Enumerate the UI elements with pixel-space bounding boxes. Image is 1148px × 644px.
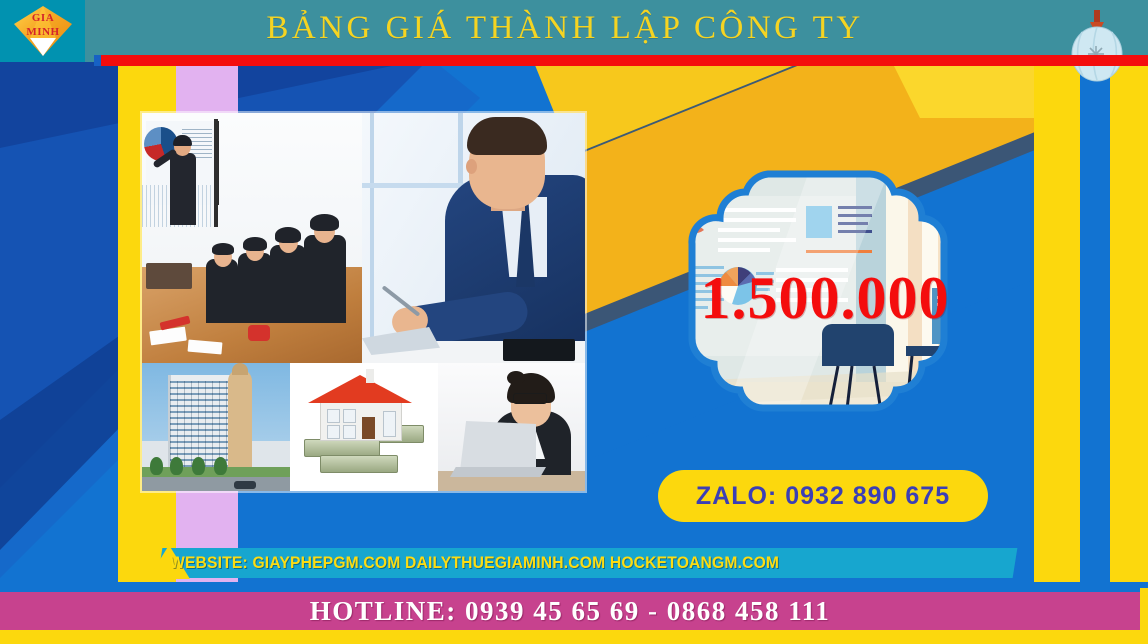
- woman-laptop-screen: [460, 421, 536, 471]
- hotline-bar[interactable]: HOTLINE: 0939 45 65 69 - 0868 458 111: [0, 592, 1140, 630]
- businesswoman-laptop-photo: [438, 363, 585, 491]
- building-car: [234, 481, 256, 489]
- zalo-contact-pill[interactable]: ZALO: 0932 890 675: [658, 470, 988, 522]
- logo-line-1: GIA: [12, 11, 74, 25]
- building-tree-1: [150, 457, 163, 475]
- header-red-rule: [101, 55, 1148, 66]
- logo-wordmark: GIA MINH: [12, 11, 74, 39]
- house-door: [362, 417, 375, 439]
- money-stack-front: [320, 455, 398, 473]
- photo-collage: [142, 113, 585, 491]
- promotional-banner: GIA MINH BẢNG GIÁ THÀNH LẬP CÔNG TY: [0, 0, 1148, 644]
- meeting-board-edge: [214, 119, 218, 227]
- building-round-wing: [228, 369, 252, 475]
- meeting-attendee-3-hair: [275, 227, 301, 243]
- house-window-5: [383, 411, 396, 437]
- businessman-hair: [467, 117, 547, 155]
- meeting-attendee-4: [304, 235, 346, 323]
- meeting-attendee-3: [270, 245, 306, 323]
- businessman-window-mullion-1: [370, 113, 374, 363]
- house-on-money-photo: [290, 363, 438, 491]
- woman-glasses: [513, 393, 547, 404]
- office-building-photo: [142, 363, 290, 491]
- meeting-presenter-hair: [173, 135, 192, 146]
- building-tree-4: [214, 457, 227, 475]
- business-meeting-photo: [142, 113, 362, 363]
- hotline-right-accent: [1140, 588, 1148, 636]
- meeting-attendee-1: [206, 259, 238, 323]
- house-chimney: [366, 369, 374, 383]
- christmas-bauble-icon: [1066, 10, 1128, 82]
- meeting-laptop: [146, 263, 192, 289]
- house-roof: [308, 375, 412, 403]
- bottom-yellow-strip: [0, 630, 1148, 644]
- page-title: BẢNG GIÁ THÀNH LẬP CÔNG TY: [85, 0, 1045, 56]
- right-yellow-stripe-outer: [1110, 62, 1148, 582]
- businessman-writing-photo: [362, 113, 585, 363]
- meeting-attendee-2-hair: [243, 237, 267, 251]
- businessman-ear: [466, 159, 477, 174]
- right-blue-stripe: [1080, 62, 1110, 582]
- price-badge: 1.500.000: [660, 168, 990, 430]
- meeting-red-object: [248, 325, 270, 341]
- header-bar: GIA MINH BẢNG GIÁ THÀNH LẬP CÔNG TY: [0, 0, 1148, 62]
- woman-hair-bun: [507, 371, 525, 385]
- website-label: WEBSITE: GIAYPHEPGM.COM DAILYTHUEGIAMINH…: [170, 553, 779, 573]
- website-bar[interactable]: WEBSITE: GIAYPHEPGM.COM DAILYTHUEGIAMINH…: [170, 548, 1015, 578]
- price-value: 1.500.000: [660, 264, 990, 333]
- meeting-attendee-4-hair: [310, 214, 339, 231]
- woman-laptop-base: [450, 467, 546, 477]
- zalo-label: ZALO: 0932 890 675: [696, 482, 950, 511]
- building-tree-2: [170, 457, 183, 475]
- house-window-4: [343, 425, 356, 439]
- meeting-presenter-body: [170, 153, 196, 225]
- building-tree-3: [192, 457, 205, 475]
- building-window-grid: [170, 381, 228, 469]
- meeting-attendee-1-hair: [212, 243, 234, 255]
- businessman-calculator: [503, 339, 575, 361]
- house-window-3: [327, 425, 340, 439]
- house-window-2: [343, 409, 356, 423]
- building-wing-cap: [232, 363, 248, 375]
- logo-line-2: MINH: [12, 25, 74, 39]
- hotline-label: HOTLINE: 0939 45 65 69 - 0868 458 111: [310, 596, 831, 627]
- house-window-1: [327, 409, 340, 423]
- right-yellow-stripe-inner: [1034, 62, 1080, 582]
- meeting-attendee-2: [238, 253, 272, 323]
